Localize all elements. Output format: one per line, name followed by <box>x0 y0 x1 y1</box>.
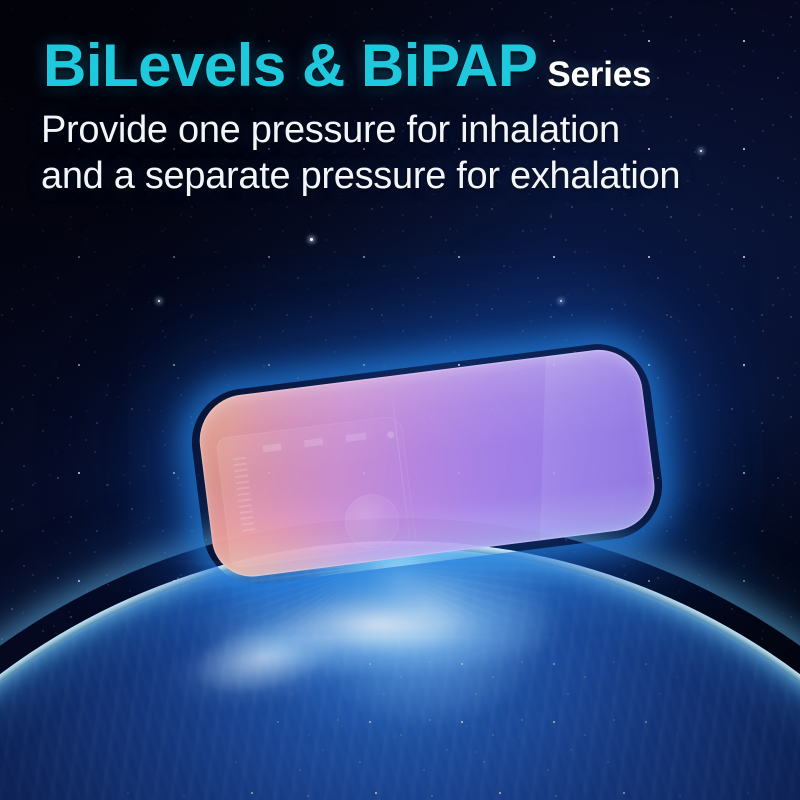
subtitle-line-2: and a separate pressure for exhalation <box>41 154 680 200</box>
bright-star-icon <box>158 300 160 302</box>
bright-star-icon <box>560 300 562 302</box>
bright-star-icon <box>700 150 702 152</box>
headline-series-label: Series <box>547 55 651 94</box>
headline-main: BiLevels & BiPAP <box>43 32 537 99</box>
subtitle-line-1: Provide one pressure for inhalation <box>41 108 680 154</box>
subtitle: Provide one pressure for inhalation and … <box>41 108 680 200</box>
headline: BiLevels & BiPAPSeries <box>43 36 651 96</box>
bright-star-icon <box>310 238 313 241</box>
product-banner: BiLevels & BiPAPSeries Provide one press… <box>0 0 800 800</box>
